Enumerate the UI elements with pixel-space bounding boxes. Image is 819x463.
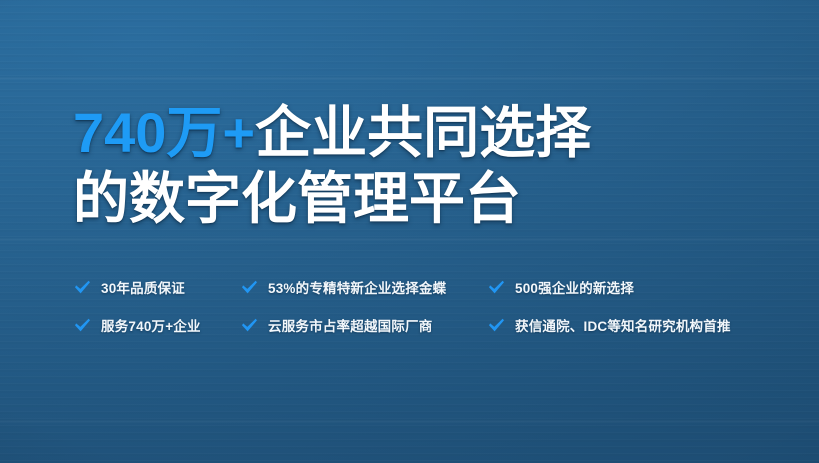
- banner-content: 740万+企业共同选择 的数字化管理平台 30年品质保证: [0, 0, 819, 463]
- list-item: 53%的专精特新企业选择金蝶: [240, 277, 487, 297]
- headline-line-1: 740万+企业共同选择: [73, 100, 773, 166]
- hero-banner: 740万+企业共同选择 的数字化管理平台 30年品质保证: [0, 0, 819, 463]
- list-item: 500强企业的新选择: [487, 277, 634, 297]
- headline-line-1-rest: 企业共同选择: [255, 101, 591, 164]
- list-item: 获信通院、IDC等知名研究机构首推: [487, 315, 731, 335]
- check-icon: [240, 316, 259, 335]
- bullet-row: 30年品质保证 53%的专精特新企业选择金蝶: [73, 268, 773, 306]
- check-icon: [487, 278, 506, 297]
- bullet-row: 服务740万+企业 云服务市占率超越国际厂商: [73, 306, 773, 344]
- feature-bullets: 30年品质保证 53%的专精特新企业选择金蝶: [73, 268, 773, 344]
- check-icon: [240, 278, 259, 297]
- list-item-label: 30年品质保证: [101, 277, 185, 297]
- list-item-label: 云服务市占率超越国际厂商: [268, 315, 432, 335]
- headline-accent-number: 740万+: [73, 101, 255, 164]
- list-item-label: 服务740万+企业: [101, 315, 201, 335]
- list-item-label: 500强企业的新选择: [515, 277, 634, 297]
- check-icon: [73, 316, 92, 335]
- check-icon: [487, 316, 506, 335]
- check-icon: [73, 278, 92, 297]
- headline: 740万+企业共同选择 的数字化管理平台: [73, 100, 773, 232]
- list-item: 服务740万+企业: [73, 315, 240, 335]
- list-item-label: 53%的专精特新企业选择金蝶: [268, 277, 446, 297]
- list-item: 30年品质保证: [73, 277, 240, 297]
- headline-line-2: 的数字化管理平台: [73, 166, 773, 232]
- list-item-label: 获信通院、IDC等知名研究机构首推: [515, 315, 731, 335]
- list-item: 云服务市占率超越国际厂商: [240, 315, 487, 335]
